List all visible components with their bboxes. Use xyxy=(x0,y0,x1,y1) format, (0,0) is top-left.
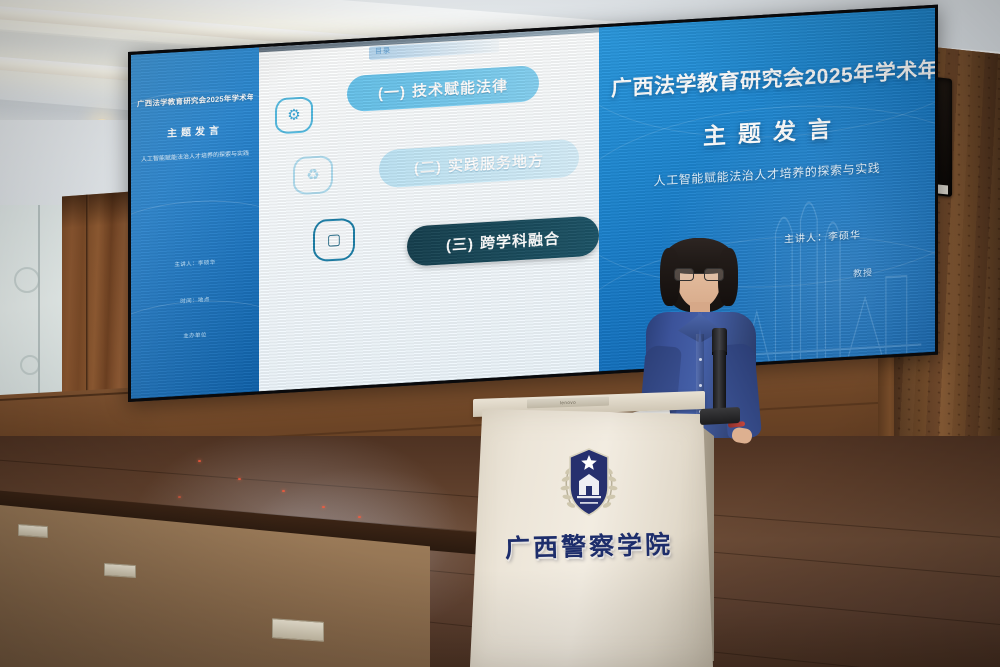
glasses-lens-left xyxy=(674,268,694,281)
speaker-glasses xyxy=(674,268,724,281)
podium-institution-name: 广西警察学院 xyxy=(465,524,714,566)
right-panel-speaker-title: 教授 xyxy=(853,265,873,279)
led-center-slide: 目录 ⚙ ♻ ▢ (一) 技术赋能法律 (二) 实践服务地方 xyxy=(259,27,599,391)
slide-item-1-number: (一) xyxy=(378,80,406,103)
led-left-panel: 广西法学教育研究会2025年学术年会 主题发言 人工智能赋能法治人才培养的探索与… xyxy=(131,47,259,398)
floor-laser-dot-4 xyxy=(322,506,325,508)
wall-speaker-label xyxy=(938,184,948,194)
slide-item-3-text: 跨学科融合 xyxy=(480,227,560,253)
gear-icon-frame: ⚙ xyxy=(275,96,313,134)
police-college-crest-icon xyxy=(552,443,626,523)
lectern-podium: lenovo xyxy=(465,395,713,667)
slide-item-3[interactable]: (三) 跨学科融合 xyxy=(407,215,599,266)
floor-outlet-2[interactable] xyxy=(104,563,136,578)
podium-front-panel: 广西警察学院 xyxy=(465,409,713,667)
floor-laser-dot-3 xyxy=(282,490,285,492)
slide-item-3-number: (三) xyxy=(446,232,474,255)
podium-microphone[interactable] xyxy=(700,328,740,424)
floor-laser-dot-5 xyxy=(358,516,361,518)
led-video-wall[interactable]: 广西法学教育研究会2025年学术年会 主题发言 人工智能赋能法治人才培养的探索与… xyxy=(128,5,938,402)
conference-hall-photo: 广西法学教育研究会2025年学术年会 主题发言 人工智能赋能法治人才培养的探索与… xyxy=(0,0,1000,667)
recycle-icon-frame: ♻ xyxy=(293,155,333,195)
floor-outlet-1[interactable] xyxy=(18,524,48,538)
glasses-bridge xyxy=(694,273,704,274)
glasses-lens-right xyxy=(704,268,724,281)
slide-item-2-text: 实践服务地方 xyxy=(448,149,544,176)
chip-icon: ▢ xyxy=(327,232,341,248)
floor-laser-dot-1 xyxy=(198,460,201,462)
chip-icon-frame: ▢ xyxy=(313,218,355,262)
microphone-body xyxy=(713,350,726,412)
glass-decor-circle-1 xyxy=(14,267,40,293)
gear-icon: ⚙ xyxy=(287,107,300,123)
microphone-base xyxy=(700,407,740,425)
slide-item-2[interactable]: (二) 实践服务地方 xyxy=(379,139,579,189)
floor-outlet-3[interactable] xyxy=(272,618,324,642)
floor-laser-dot-2 xyxy=(238,478,241,480)
slide-item-2-number: (二) xyxy=(414,155,442,178)
slide-header-label: 目录 xyxy=(375,46,391,57)
floor-laser-dot-7 xyxy=(178,496,181,498)
recycle-icon: ♻ xyxy=(306,167,319,183)
slide-item-1-text: 技术赋能法律 xyxy=(412,74,508,101)
slide-item-1[interactable]: (一) 技术赋能法律 xyxy=(347,65,539,112)
glass-decor-circle-2 xyxy=(20,355,40,375)
